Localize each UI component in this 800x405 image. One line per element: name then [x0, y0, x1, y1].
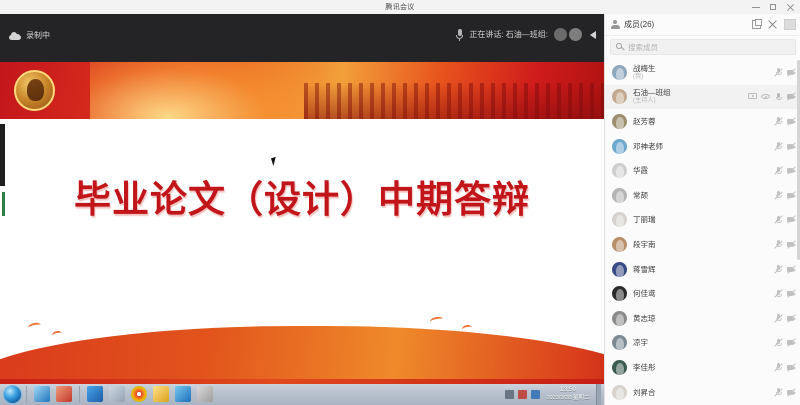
member-row[interactable]: 刘昇合 [605, 380, 800, 405]
member-name-block: 黄志琼 [633, 314, 656, 323]
excel-icon[interactable] [197, 386, 213, 402]
divider [26, 386, 27, 403]
input-method-icon[interactable] [518, 390, 527, 399]
internet-explorer-icon[interactable] [34, 386, 50, 402]
member-name-block: 丁丽瑞 [633, 215, 656, 224]
member-row[interactable]: 石油—班组(主持人) [605, 85, 800, 110]
collapse-arrow-icon[interactable] [590, 31, 596, 39]
taskbar-clock[interactable]: 13:50 2023/3/28 星期二 [544, 385, 592, 403]
member-actions [774, 142, 796, 151]
mic-muted-icon[interactable] [774, 68, 783, 77]
member-actions [774, 265, 796, 274]
member-name-block: 华霞 [633, 166, 648, 175]
member-name: 何佳鸢 [633, 289, 656, 298]
member-name: 段宇南 [633, 240, 656, 249]
member-name-block: 何佳鸢 [633, 289, 656, 298]
clock-date: 2023/3/28 星期二 [544, 394, 592, 403]
system-tray: 13:50 2023/3/28 星期二 [505, 383, 604, 405]
slide-title: 毕业论文（设计）中期答辩 [0, 169, 604, 223]
avatar [554, 28, 567, 41]
member-name-block: 石油—班组(主持人) [633, 88, 671, 105]
cloud-icon [9, 32, 21, 40]
member-name: 战梅生 [633, 64, 656, 73]
member-name-block: 战梅生(我) [633, 64, 656, 81]
member-actions [774, 289, 796, 298]
member-actions [774, 117, 796, 126]
mic-muted-icon[interactable] [774, 363, 783, 372]
mic-muted-icon[interactable] [774, 388, 783, 397]
taskbar-top-accent [0, 379, 604, 384]
mic-muted-icon[interactable] [774, 117, 783, 126]
presentation-slide: 毕业论文（设计）中期答辩 石油工程学院 2023. 3. 28 [0, 62, 604, 382]
camera-muted-icon[interactable] [787, 191, 796, 200]
window-controls [752, 0, 798, 14]
members-panel-header: 成员(26) [605, 14, 800, 36]
divider [79, 386, 80, 403]
panel-header-actions [752, 19, 796, 30]
os-taskbar: 13:50 2023/3/28 星期二 [0, 382, 604, 405]
member-list[interactable]: 战梅生(我)石油—班组(主持人)赵芳蓉邓神老师华霞常颉丁丽瑞段宇南蒋雪辉何佳鸢黄… [605, 60, 800, 405]
member-name-block: 凉宇 [633, 338, 648, 347]
network-icon[interactable] [505, 390, 514, 399]
mic-muted-icon[interactable] [774, 166, 783, 175]
camera-muted-icon[interactable] [787, 215, 796, 224]
member-row[interactable]: 战梅生(我) [605, 60, 800, 85]
member-row[interactable]: 赵芳蓉 [605, 109, 800, 134]
camera-muted-icon[interactable] [787, 240, 796, 249]
volume-icon[interactable] [531, 390, 540, 399]
window-title: 腾讯会议 [385, 2, 414, 12]
avatar [612, 286, 627, 301]
camera-muted-icon[interactable] [787, 314, 796, 323]
avatar [612, 262, 627, 277]
member-name-block: 段宇南 [633, 240, 656, 249]
member-name-block: 李佳彤 [633, 363, 656, 372]
sync-icon[interactable] [109, 386, 125, 402]
camera-muted-icon[interactable] [787, 166, 796, 175]
emblem-icon [14, 70, 55, 111]
member-role: (主持人) [633, 97, 671, 105]
mic-icon[interactable] [774, 92, 783, 101]
member-row[interactable]: 黄志琼 [605, 306, 800, 331]
avatar [612, 163, 627, 178]
member-name: 丁丽瑞 [633, 215, 656, 224]
speaker-avatars [554, 28, 582, 41]
camera-muted-icon[interactable] [787, 92, 796, 101]
member-name-block: 邓神老师 [633, 142, 663, 151]
avatar [612, 139, 627, 154]
member-row[interactable]: 段宇南 [605, 232, 800, 257]
member-name-block: 常颉 [633, 191, 648, 200]
banner-skyline-decoration [304, 83, 604, 119]
mic-muted-icon[interactable] [774, 338, 783, 347]
show-desktop-button[interactable] [596, 383, 601, 405]
mic-muted-icon[interactable] [774, 142, 783, 151]
avatar [612, 89, 627, 104]
mic-muted-icon[interactable] [774, 289, 783, 298]
member-row[interactable]: 蒋雪辉 [605, 257, 800, 282]
speaking-label: 正在讲话: 石油—班组: [469, 29, 548, 40]
close-icon[interactable] [786, 3, 794, 11]
close-panel-icon[interactable] [768, 20, 777, 29]
avatar [612, 237, 627, 252]
slide-subtitle: 石油工程学院 [0, 332, 604, 359]
popout-icon[interactable] [752, 20, 761, 29]
camera-muted-icon[interactable] [787, 289, 796, 298]
speaking-indicator: 正在讲话: 石油—班组: [456, 28, 596, 41]
eye-icon[interactable] [761, 92, 770, 101]
recording-indicator: 录制中 [9, 30, 50, 41]
member-name: 黄志琼 [633, 314, 656, 323]
microphone-icon [456, 29, 463, 41]
member-actions [774, 314, 796, 323]
avatar [612, 65, 627, 80]
recording-label: 录制中 [26, 30, 50, 41]
media-player-icon[interactable] [87, 386, 103, 402]
camera-muted-icon[interactable] [787, 338, 796, 347]
folder-icon[interactable] [153, 386, 169, 402]
share-icon[interactable] [748, 92, 757, 101]
member-row[interactable]: 丁丽瑞 [605, 208, 800, 233]
member-row[interactable]: 李佳彤 [605, 355, 800, 380]
stage-edge-strip [0, 124, 5, 186]
avatar [612, 360, 627, 375]
member-actions [774, 215, 796, 224]
app-blue-icon[interactable] [175, 386, 191, 402]
powerpoint-icon[interactable] [56, 386, 72, 402]
member-row[interactable]: 常颉 [605, 183, 800, 208]
members-panel: 成员(26) 搜索成员 战梅生(我)石油—班组(主持人)赵芳蓉邓神老师华霞常颉丁… [604, 14, 800, 405]
member-actions [774, 363, 796, 372]
member-row[interactable]: 凉宇 [605, 331, 800, 356]
member-name-block: 刘昇合 [633, 388, 656, 397]
search-placeholder: 搜索成员 [628, 42, 658, 53]
avatar [612, 335, 627, 350]
member-name: 凉宇 [633, 338, 648, 347]
slide-banner [0, 62, 604, 119]
chrome-icon[interactable] [131, 386, 147, 402]
member-actions [774, 338, 796, 347]
mic-muted-icon[interactable] [774, 215, 783, 224]
camera-muted-icon[interactable] [787, 265, 796, 274]
avatar [612, 385, 627, 400]
members-count-label: 成员(26) [624, 19, 654, 30]
camera-muted-icon[interactable] [787, 68, 796, 77]
avatar [612, 188, 627, 203]
mic-muted-icon[interactable] [774, 265, 783, 274]
mic-muted-icon[interactable] [774, 240, 783, 249]
camera-muted-icon[interactable] [787, 363, 796, 372]
avatar [612, 311, 627, 326]
member-row[interactable]: 邓神老师 [605, 134, 800, 159]
member-actions [748, 92, 796, 101]
member-name: 华霞 [633, 166, 648, 175]
start-button[interactable] [3, 385, 22, 404]
camera-muted-icon[interactable] [787, 388, 796, 397]
member-name-block: 赵芳蓉 [633, 117, 656, 126]
avatar [569, 28, 582, 41]
member-name: 赵芳蓉 [633, 117, 656, 126]
search-input[interactable]: 搜索成员 [610, 39, 796, 55]
search-icon [616, 43, 624, 51]
member-name-block: 蒋雪辉 [633, 265, 656, 274]
member-actions [774, 240, 796, 249]
member-search[interactable]: 搜索成员 [610, 39, 796, 55]
avatar [612, 114, 627, 129]
member-role: (我) [633, 73, 656, 81]
shared-screen-stage[interactable]: 毕业论文（设计）中期答辩 石油工程学院 2023. 3. 28 [0, 62, 604, 382]
grip-handle-icon[interactable] [784, 19, 796, 30]
window-titlebar: 腾讯会议 [0, 0, 800, 14]
minimize-icon[interactable] [752, 3, 760, 11]
member-name: 邓神老师 [633, 142, 663, 151]
member-actions [774, 388, 796, 397]
member-actions [774, 191, 796, 200]
maximize-icon[interactable] [769, 3, 777, 11]
mic-muted-icon[interactable] [774, 314, 783, 323]
camera-muted-icon[interactable] [787, 117, 796, 126]
clock-time: 13:50 [544, 385, 592, 394]
stage-edge-marker [2, 192, 5, 216]
member-name: 常颉 [633, 191, 648, 200]
member-row[interactable]: 华霞 [605, 158, 800, 183]
mic-muted-icon[interactable] [774, 191, 783, 200]
member-name: 刘昇合 [633, 388, 656, 397]
camera-muted-icon[interactable] [787, 142, 796, 151]
avatar [612, 212, 627, 227]
member-row[interactable]: 何佳鸢 [605, 281, 800, 306]
member-actions [774, 68, 796, 77]
member-name: 蒋雪辉 [633, 265, 656, 274]
meeting-toolbar: 录制中 正在讲话: 石油—班组: [0, 14, 604, 62]
screen: 腾讯会议 录制中 正在讲话: 石油—班组: [0, 0, 800, 405]
people-icon [610, 20, 620, 30]
member-actions [774, 166, 796, 175]
member-name: 李佳彤 [633, 363, 656, 372]
